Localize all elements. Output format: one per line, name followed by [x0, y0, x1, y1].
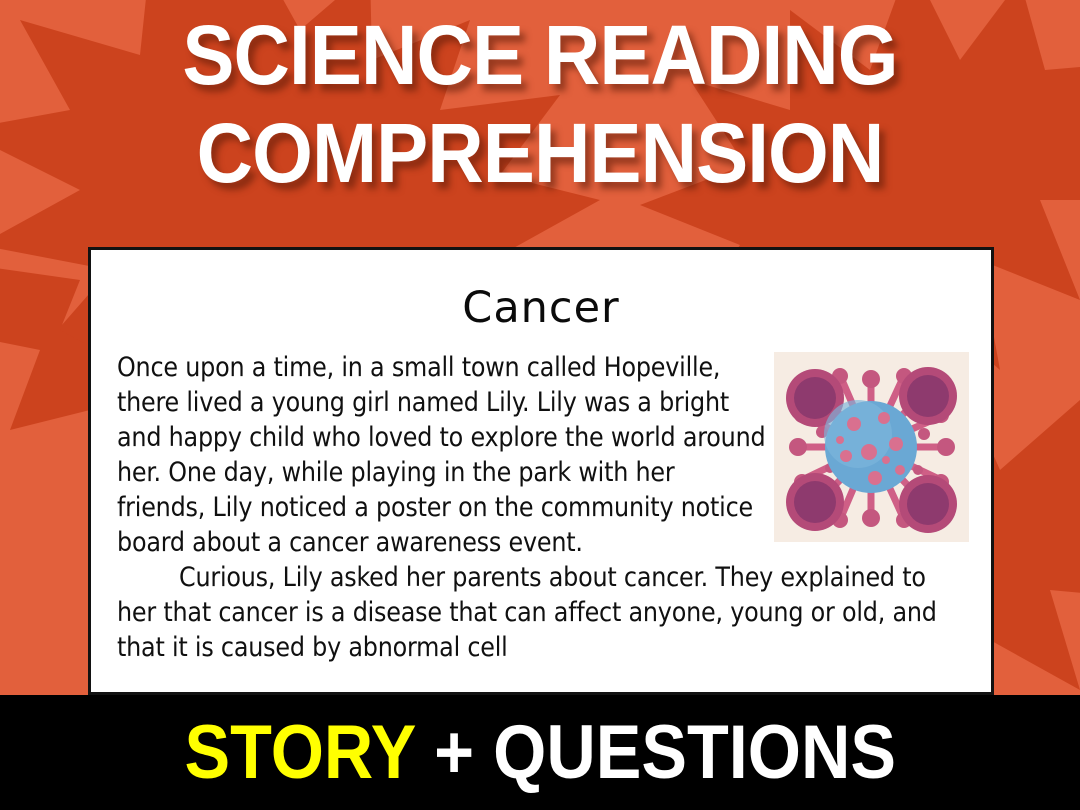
footer-questions-label: QUESTIONS	[493, 710, 896, 795]
worksheet-paragraph: Curious, Lily asked her parents about ca…	[117, 560, 969, 665]
title-line-2: COMPREHENSION	[38, 104, 1042, 202]
footer-plus-label: +	[415, 710, 493, 795]
title-line-1: SCIENCE READING	[38, 6, 1042, 104]
poster-canvas: SCIENCE READING COMPREHENSION Cancer	[0, 0, 1080, 810]
footer-banner: STORY + QUESTIONS	[0, 695, 1080, 810]
footer-story-label: STORY	[184, 710, 415, 795]
cancer-cell-illustration	[774, 352, 969, 542]
worksheet-body: Once upon a time, in a small town called…	[117, 350, 969, 665]
worksheet-page: Cancer	[91, 284, 991, 695]
worksheet-preview: Cancer	[88, 247, 994, 695]
poster-title: SCIENCE READING COMPREHENSION	[0, 6, 1080, 202]
worksheet-heading: Cancer	[91, 284, 991, 332]
footer-label: STORY + QUESTIONS	[184, 713, 895, 793]
